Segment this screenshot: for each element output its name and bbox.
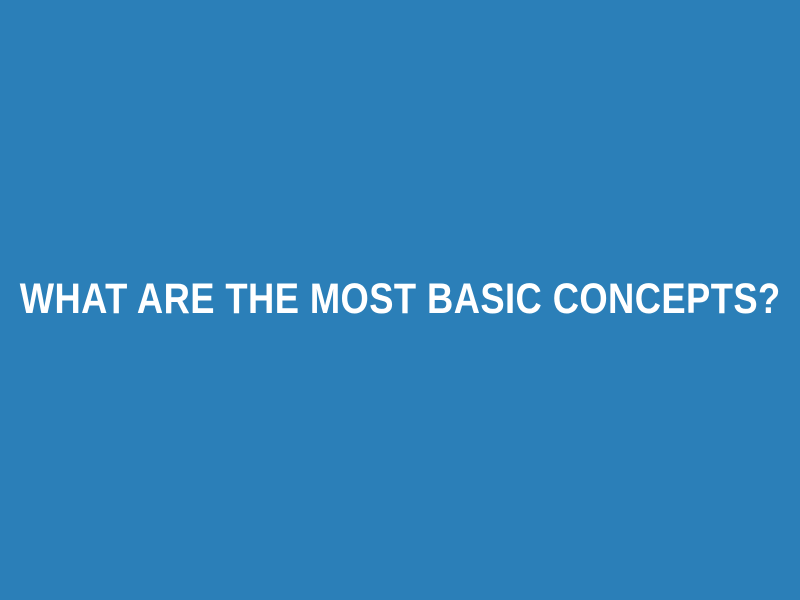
page-title: WHAT ARE THE MOST BASIC CONCEPTS? bbox=[20, 276, 781, 323]
title-card: WHAT ARE THE MOST BASIC CONCEPTS? bbox=[0, 0, 800, 600]
